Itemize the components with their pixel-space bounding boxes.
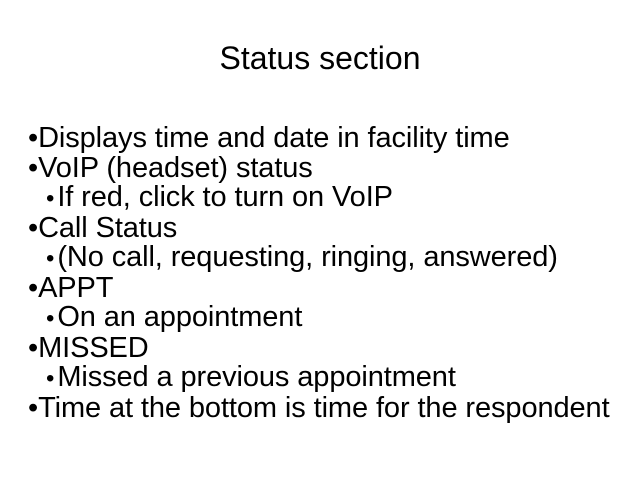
list-item: •(No call, requesting, ringing, answered…: [28, 243, 628, 274]
bullet-icon: •: [46, 184, 54, 214]
bullet-list: •Displays time and date in facility time…: [28, 124, 628, 423]
list-item: •APPT: [28, 274, 628, 304]
bullet-icon: •: [28, 154, 38, 184]
bullet-icon: •: [28, 394, 38, 424]
bullet-icon: •: [46, 304, 54, 334]
bullet-icon: •: [46, 364, 54, 394]
list-item: •If red, click to turn on VoIP: [28, 183, 628, 214]
list-item: •On an appointment: [28, 303, 628, 334]
list-item: •Time at the bottom is time for the resp…: [28, 394, 628, 424]
bullet-icon: •: [28, 124, 38, 154]
bullet-icon: •: [28, 334, 38, 364]
list-item: •Call Status: [28, 214, 628, 244]
bullet-icon: •: [28, 274, 38, 304]
page-title: Status section: [0, 38, 640, 78]
list-item-label: On an appointment: [57, 301, 302, 333]
list-item-label: Missed a previous appointment: [57, 361, 455, 393]
list-item-label: (No call, requesting, ringing, answered): [57, 241, 558, 273]
list-item: •Missed a previous appointment: [28, 363, 628, 394]
list-item-label: If red, click to turn on VoIP: [57, 181, 393, 213]
list-item-label: Displays time and date in facility time: [38, 122, 510, 154]
bullet-icon: •: [46, 244, 54, 274]
list-item-label: APPT: [38, 272, 113, 304]
slide: Status section •Displays time and date i…: [0, 0, 640, 480]
bullet-icon: •: [28, 214, 38, 244]
list-item-label: VoIP (headset) status: [38, 152, 313, 184]
list-item: •Displays time and date in facility time: [28, 124, 628, 154]
list-item: •VoIP (headset) status: [28, 154, 628, 184]
list-item-label: MISSED: [38, 332, 149, 364]
list-item: •MISSED: [28, 334, 628, 364]
list-item-label: Time at the bottom is time for the respo…: [38, 392, 609, 424]
list-item-label: Call Status: [38, 212, 177, 244]
